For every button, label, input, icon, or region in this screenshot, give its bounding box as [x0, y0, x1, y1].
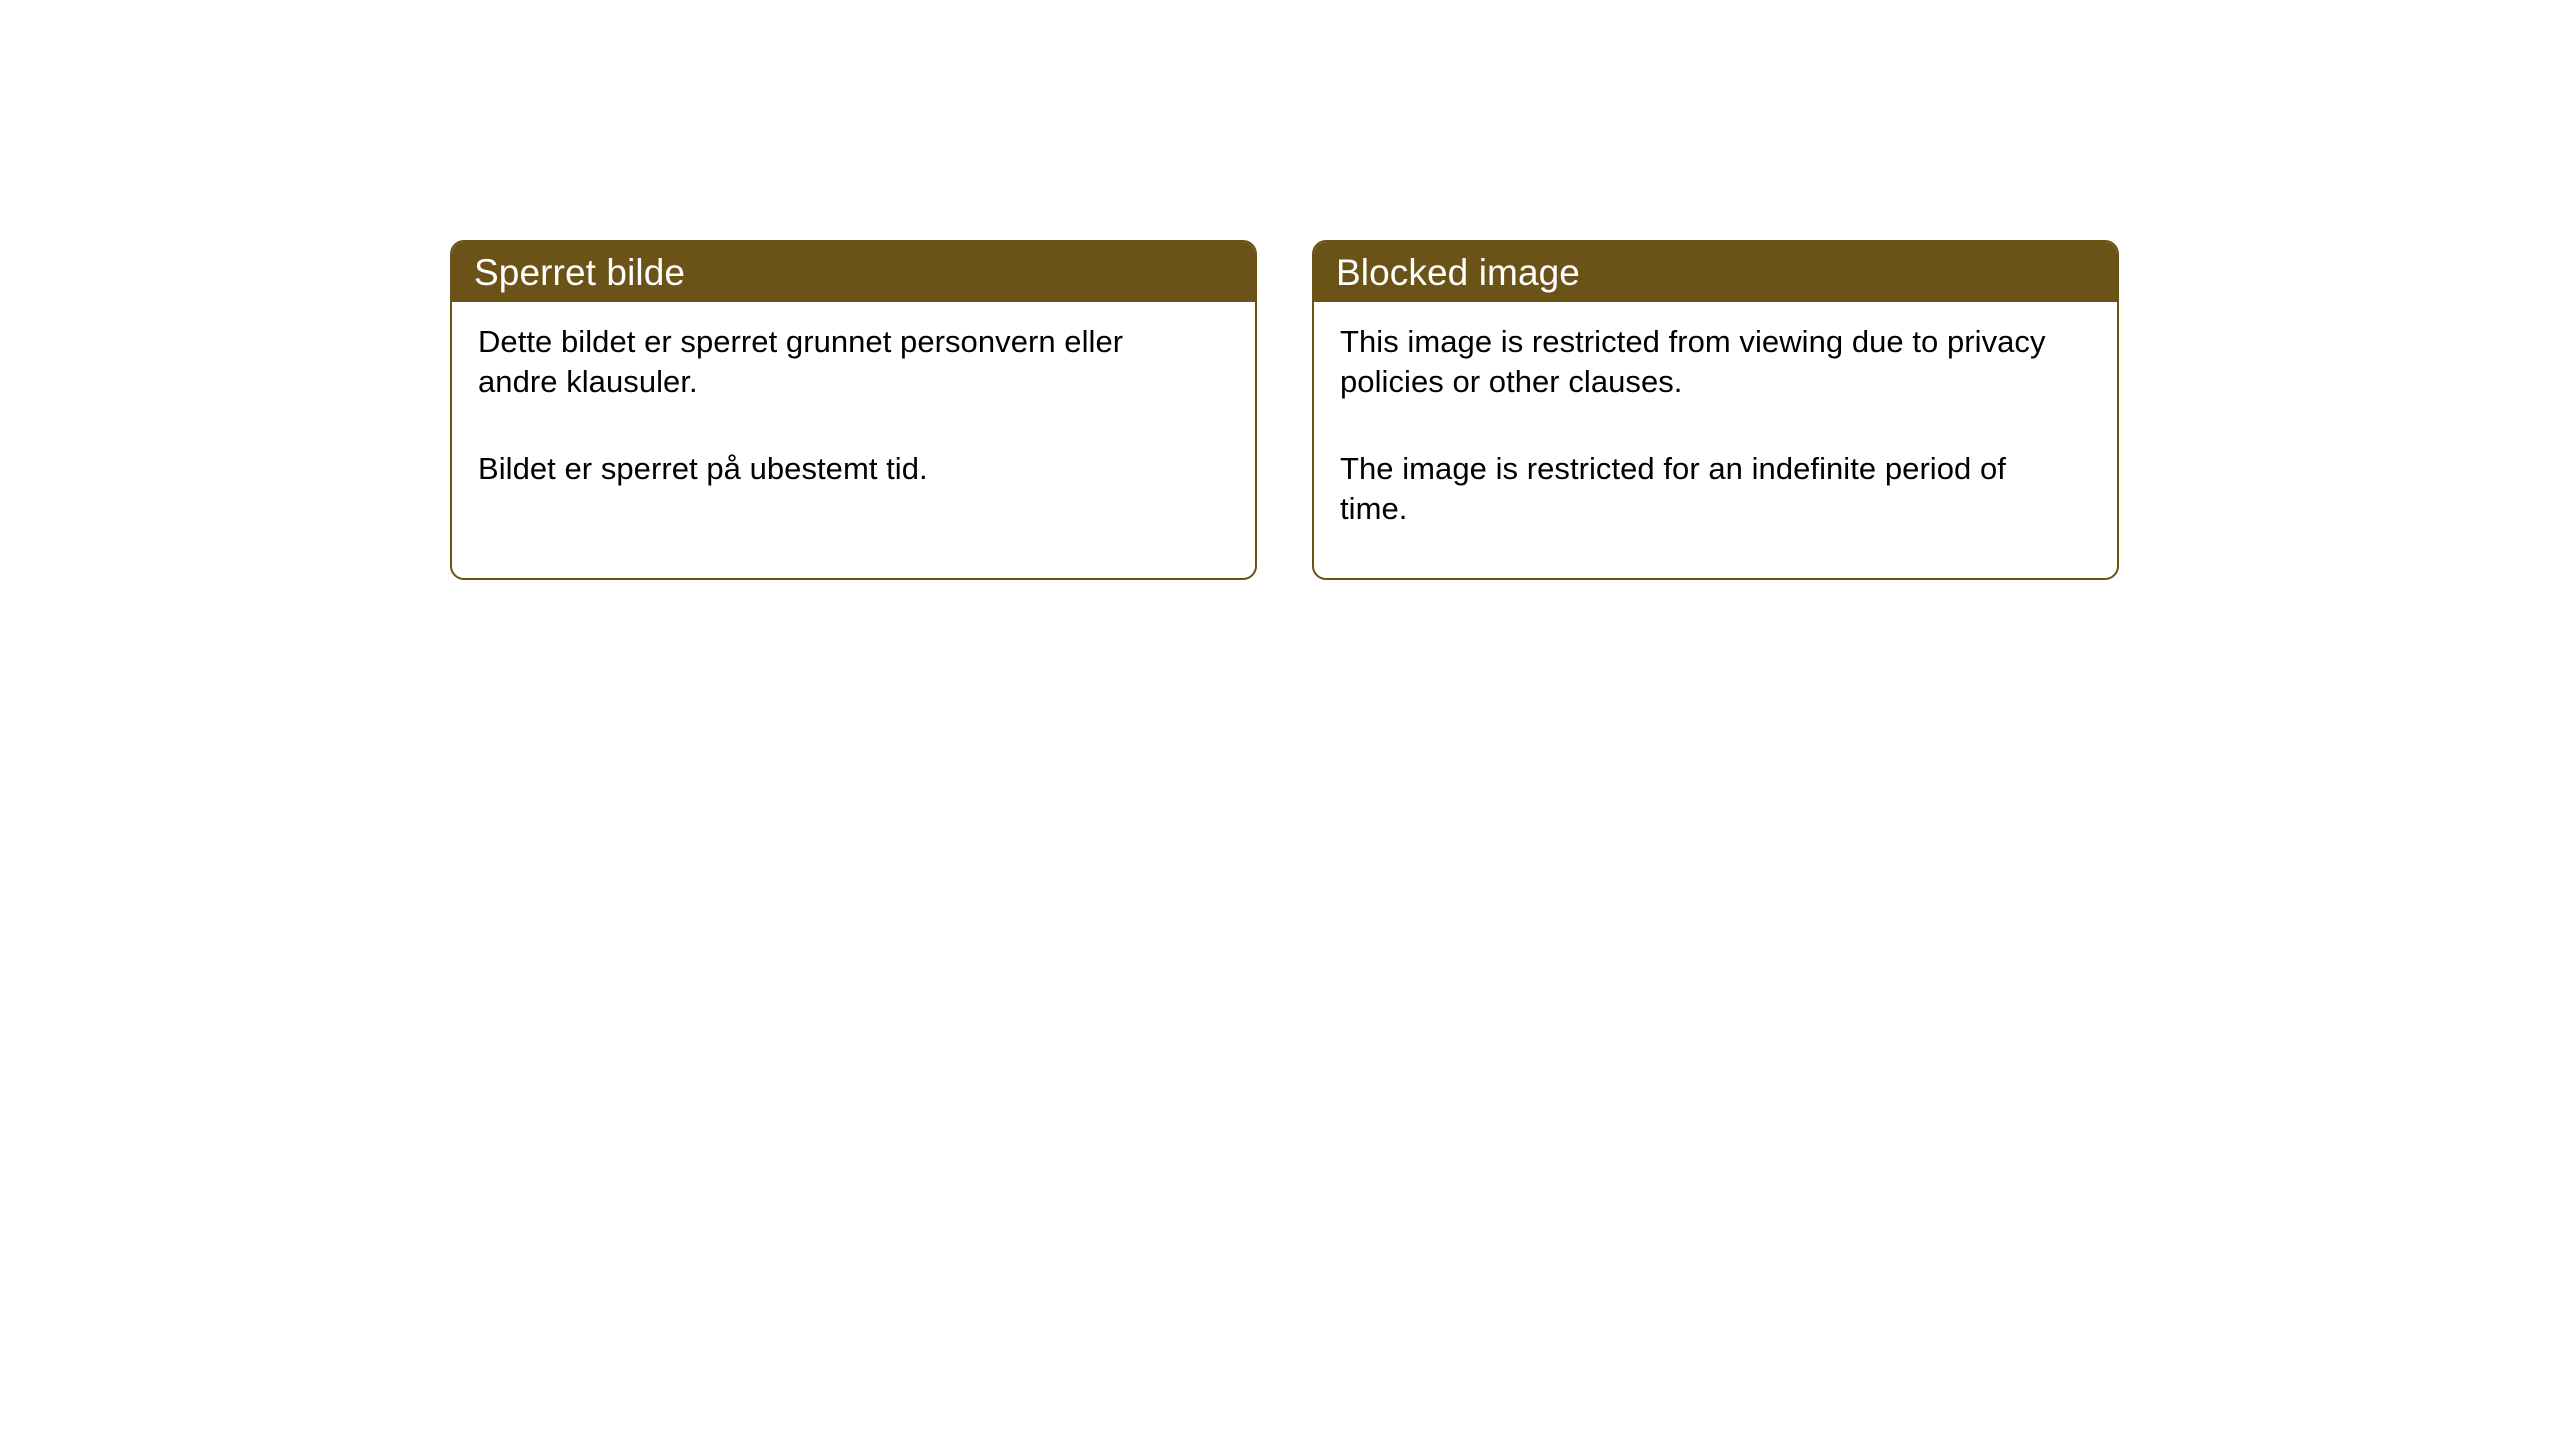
page-canvas: Sperret bilde Dette bildet er sperret gr…: [0, 0, 2560, 1440]
notice-paragraph-duration-english: The image is restricted for an indefinit…: [1340, 449, 2070, 528]
notice-body-english: This image is restricted from viewing du…: [1314, 302, 2117, 529]
notice-paragraph-duration-norwegian: Bildet er sperret på ubestemt tid.: [478, 449, 1208, 489]
blocked-image-notice-norwegian: Sperret bilde Dette bildet er sperret gr…: [450, 240, 1257, 580]
notice-paragraph-reason-english: This image is restricted from viewing du…: [1340, 322, 2070, 401]
notice-body-norwegian: Dette bildet er sperret grunnet personve…: [452, 302, 1255, 489]
notice-paragraph-reason-norwegian: Dette bildet er sperret grunnet personve…: [478, 322, 1208, 401]
notice-header-english: Blocked image: [1312, 240, 2119, 302]
blocked-image-notice-english: Blocked image This image is restricted f…: [1312, 240, 2119, 580]
notice-title-norwegian: Sperret bilde: [474, 254, 685, 291]
notice-header-norwegian: Sperret bilde: [450, 240, 1257, 302]
notice-title-english: Blocked image: [1336, 254, 1580, 291]
